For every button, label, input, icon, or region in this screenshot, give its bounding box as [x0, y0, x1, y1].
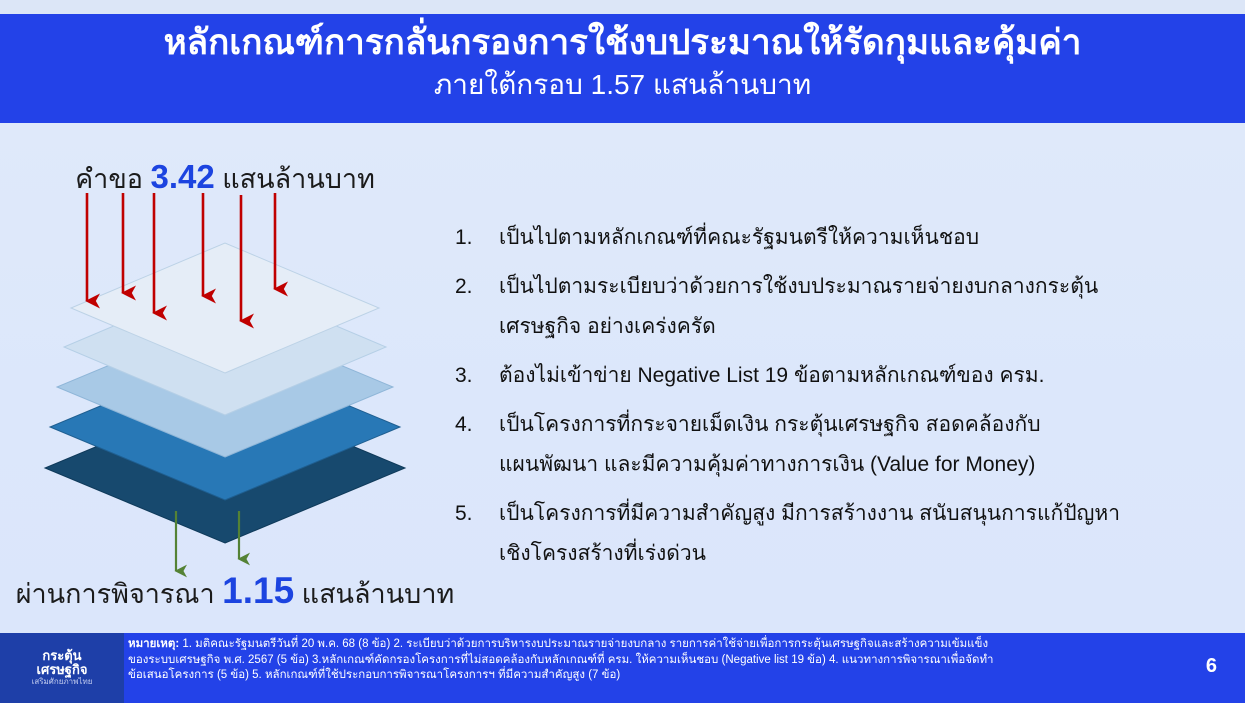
brand-logo: กระตุ้น เศรษฐกิจ เสริมศักยภาพไทย — [0, 633, 124, 703]
approved-amount-suffix: แสนล้านบาท — [294, 579, 454, 609]
header-banner: หลักเกณฑ์การกลั่นกรองการใช้งบประมาณให้รั… — [0, 14, 1245, 123]
list-item-text: เป็นโครงการที่มีความสำคัญสูง มีการสร้างง… — [499, 494, 1120, 574]
request-amount-value: 3.42 — [151, 158, 215, 195]
approved-amount-prefix: ผ่านการพิจารณา — [16, 579, 222, 609]
list-item: 4. เป็นโครงการที่กระจายเม็ดเงิน กระตุ้นเ… — [455, 405, 1225, 485]
approved-amount-value: 1.15 — [222, 570, 294, 611]
page-title: หลักเกณฑ์การกลั่นกรองการใช้งบประมาณให้รั… — [0, 20, 1245, 66]
list-item-text: เป็นไปตามระเบียบว่าด้วยการใช้งบประมาณราย… — [499, 267, 1098, 347]
stack-graphic — [30, 193, 420, 593]
list-item-text: เป็นโครงการที่กระจายเม็ดเงิน กระตุ้นเศรษ… — [499, 405, 1041, 485]
list-item: 5. เป็นโครงการที่มีความสำคัญสูง มีการสร้… — [455, 494, 1225, 574]
list-item: 2. เป็นไปตามระเบียบว่าด้วยการใช้งบประมาณ… — [455, 267, 1225, 347]
footnote-line-1: หมายเหตุ: 1. มติคณะรัฐมนตรีวันที่ 20 พ.ค… — [128, 637, 1138, 653]
brand-logo-line1: กระตุ้น — [42, 649, 81, 663]
page-subtitle: ภายใต้กรอบ 1.57 แสนล้านบาท — [0, 66, 1245, 104]
brand-logo-tagline: เสริมศักยภาพไทย — [32, 678, 93, 686]
list-item-number: 2. — [455, 267, 499, 307]
footnote-text-1: 1. มติคณะรัฐมนตรีวันที่ 20 พ.ค. 68 (8 ข้… — [179, 638, 988, 650]
list-item: 1. เป็นไปตามหลักเกณฑ์ที่คณะรัฐมนตรีให้คว… — [455, 218, 1225, 258]
slide-root: หลักเกณฑ์การกลั่นกรองการใช้งบประมาณให้รั… — [0, 0, 1245, 703]
footnote-line-2: ของระบบเศรษฐกิจ พ.ศ. 2567 (5 ข้อ) 3.หลัก… — [128, 653, 1138, 669]
list-item: 3. ต้องไม่เข้าข่าย Negative List 19 ข้อต… — [455, 356, 1225, 396]
request-amount-prefix: คำขอ — [75, 164, 150, 194]
list-item-text: เป็นไปตามหลักเกณฑ์ที่คณะรัฐมนตรีให้ความเ… — [499, 218, 979, 258]
layered-stack-diagram: คำขอ 3.42 แสนล้านบาท — [0, 123, 450, 633]
footnote-line-3: ข้อเสนอโครงการ (5 ข้อ) 5. หลักเกณฑ์ที่ใช… — [128, 668, 1138, 684]
footnote-block: หมายเหตุ: 1. มติคณะรัฐมนตรีวันที่ 20 พ.ค… — [128, 637, 1138, 684]
list-item-text: ต้องไม่เข้าข่าย Negative List 19 ข้อตามห… — [499, 356, 1044, 396]
top-strip — [0, 0, 1245, 14]
list-item-number: 4. — [455, 405, 499, 445]
brand-logo-line2: เศรษฐกิจ — [37, 663, 88, 677]
list-item-number: 5. — [455, 494, 499, 534]
page-number: 6 — [1206, 655, 1217, 678]
footnote-label: หมายเหตุ: — [128, 638, 179, 650]
approved-amount-label: ผ่านการพิจารณา 1.15 แสนล้านบาท — [0, 570, 470, 615]
request-amount-suffix: แสนล้านบาท — [215, 164, 375, 194]
list-item-number: 1. — [455, 218, 499, 258]
list-item-number: 3. — [455, 356, 499, 396]
criteria-list: 1. เป็นไปตามหลักเกณฑ์ที่คณะรัฐมนตรีให้คว… — [455, 218, 1225, 583]
